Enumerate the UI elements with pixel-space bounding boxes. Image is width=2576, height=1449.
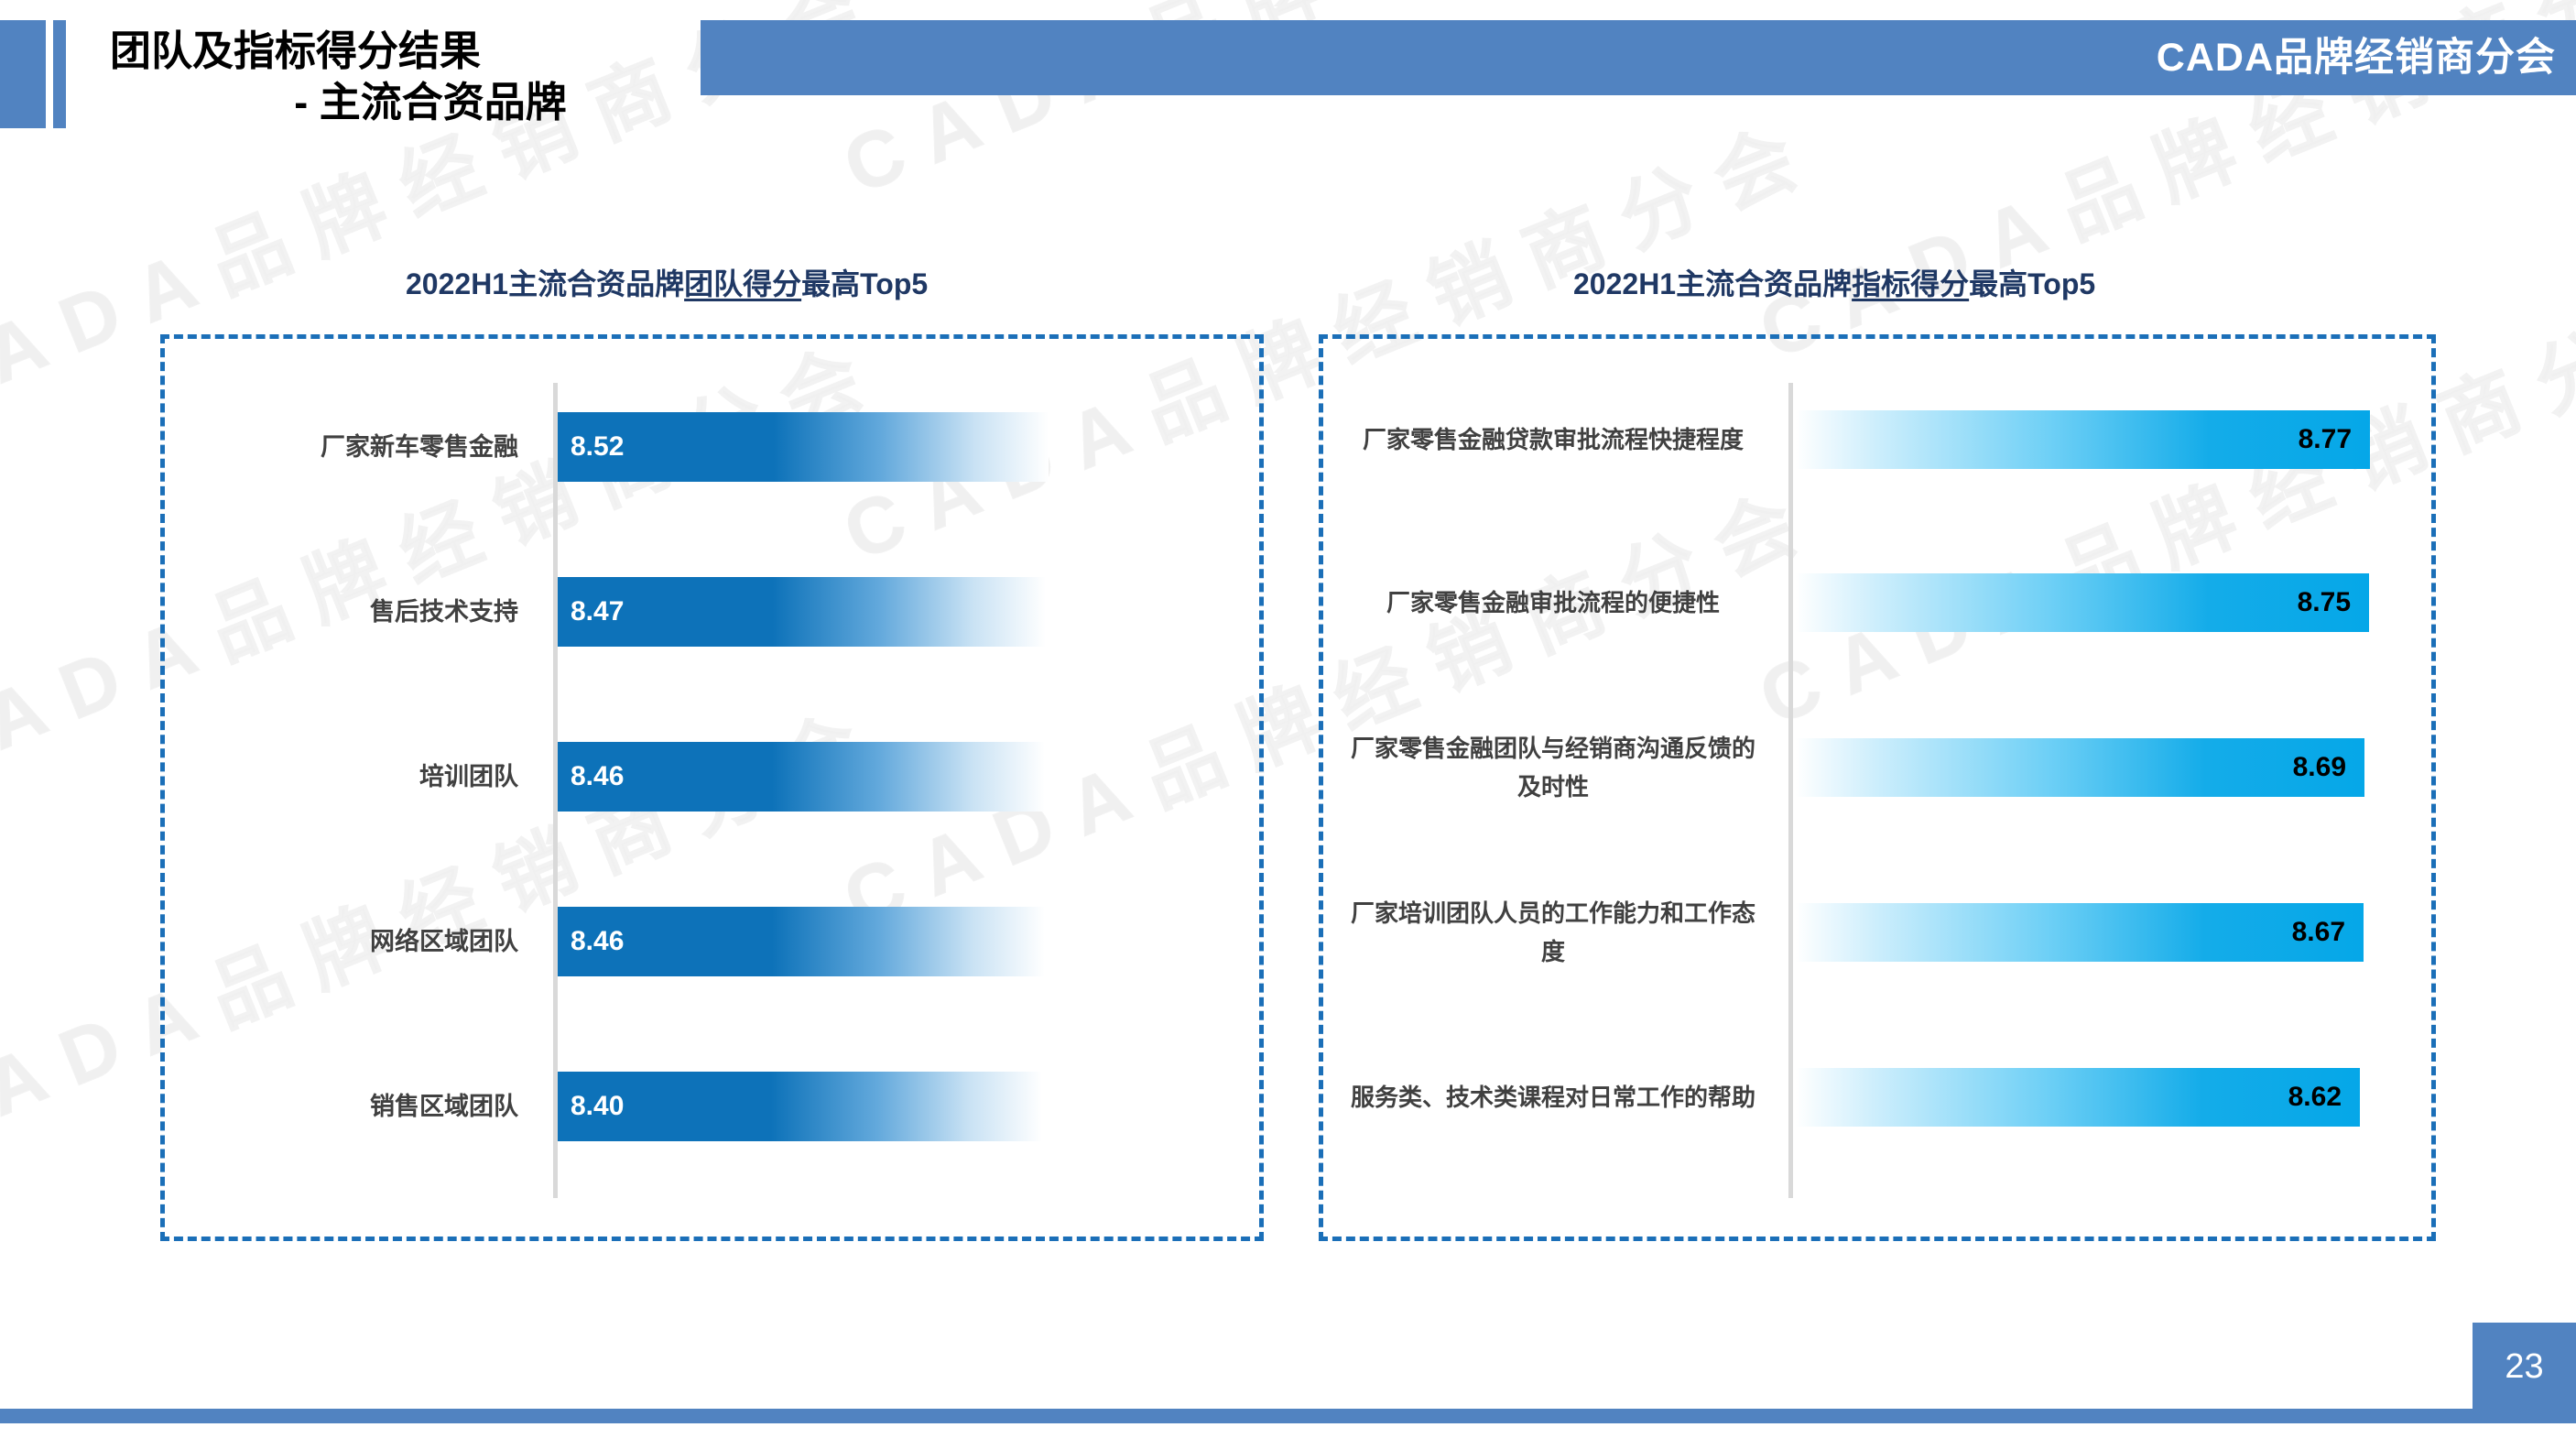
bar-value-label: 8.75 [2298,587,2369,618]
bar-row: 厂家零售金融审批流程的便捷性8.75 [1323,568,2431,637]
bar: 8.62 [1796,1068,2360,1127]
brand-title-text: CADA品牌经销商分会 [2157,36,2556,80]
bar: 8.69 [1796,738,2364,797]
page-title: 团队及指标得分结果 - 主流合资品牌 [110,26,751,128]
bar-value-label: 8.69 [2293,752,2364,783]
header-accent-bar-thin [53,20,66,128]
bar-category-label: 厂家零售金融审批流程的便捷性 [1323,583,1772,622]
bar-track: 8.67 [1796,903,2364,962]
bar-row: 厂家培训团队人员的工作能力和工作态度8.67 [1323,898,2431,967]
bar: 8.77 [1796,410,2370,469]
left-chart-panel: 厂家新车零售金融8.52售后技术支持8.47培训团队8.46网络区域团队8.46… [160,334,1264,1241]
right-chart-panel: 厂家零售金融贷款审批流程快捷程度8.77厂家零售金融审批流程的便捷性8.75厂家… [1319,334,2436,1241]
bar-value-label: 8.46 [558,926,624,957]
right-chart-title-underlined: 指标得分 [1852,267,1969,300]
bar: 8.67 [1796,903,2364,962]
bar-category-label: 销售区域团队 [165,1090,540,1123]
bar-row: 服务类、技术类课程对日常工作的帮助8.62 [1323,1062,2431,1132]
bar: 8.75 [1796,573,2369,632]
page-title-line2: - 主流合资品牌 [110,77,751,128]
bar: 8.46 [558,907,1045,976]
bar-value-label: 8.47 [558,596,624,627]
bar-category-label: 厂家培训团队人员的工作能力和工作态度 [1323,894,1772,971]
bar-row: 网络区域团队8.46 [165,907,1259,976]
bar: 8.52 [558,412,1049,482]
bar-track: 8.69 [1796,738,2364,797]
indicator-score-bar-chart: 厂家零售金融贷款审批流程快捷程度8.77厂家零售金融审批流程的便捷性8.75厂家… [1323,339,2431,1237]
bar-row: 销售区域团队8.40 [165,1072,1259,1141]
bar: 8.46 [558,742,1045,812]
bar-value-label: 8.67 [2292,917,2364,948]
right-chart-title: 2022H1主流合资品牌指标得分最高Top5 [1573,261,2095,303]
bar-row: 厂家零售金融团队与经销商沟通反馈的及时性8.69 [1323,733,2431,802]
brand-title: CADA品牌经销商分会 [2157,20,2556,95]
bar-row: 售后技术支持8.47 [165,577,1259,647]
bar-category-label: 厂家零售金融贷款审批流程快捷程度 [1323,420,1772,459]
left-chart-title-underlined: 团队得分 [684,267,801,300]
bar-category-label: 培训团队 [165,760,540,793]
team-score-bar-chart: 厂家新车零售金融8.52售后技术支持8.47培训团队8.46网络区域团队8.46… [165,339,1259,1237]
bar-track: 8.46 [558,742,1045,812]
page-number-text: 23 [2505,1347,2543,1387]
left-chart-title-suffix: 最高Top5 [801,267,928,300]
bar-category-label: 服务类、技术类课程对日常工作的帮助 [1323,1078,1772,1117]
bar-row: 厂家零售金融贷款审批流程快捷程度8.77 [1323,405,2431,474]
bar-value-label: 8.52 [558,431,624,463]
footer-bar [0,1409,2576,1423]
header-accent-bar-wide [0,20,46,128]
bar-category-label: 厂家新车零售金融 [165,430,540,463]
right-chart-title-suffix: 最高Top5 [1969,267,2095,300]
bar: 8.40 [558,1072,1042,1141]
bar-track: 8.46 [558,907,1045,976]
bar-track: 8.75 [1796,573,2369,632]
bar-value-label: 8.77 [2299,424,2370,455]
bar-category-label: 厂家零售金融团队与经销商沟通反馈的及时性 [1323,729,1772,806]
bar-value-label: 8.62 [2288,1082,2360,1113]
page-number-badge: 23 [2473,1323,2576,1411]
left-chart-title-prefix: 2022H1主流合资品牌 [406,267,684,300]
bar-category-label: 网络区域团队 [165,925,540,958]
right-chart-title-prefix: 2022H1主流合资品牌 [1573,267,1852,300]
bar-value-label: 8.46 [558,761,624,792]
bar-value-label: 8.40 [558,1091,624,1122]
bar-track: 8.47 [558,577,1046,647]
bar-track: 8.40 [558,1072,1042,1141]
page-title-line1: 团队及指标得分结果 [110,26,751,77]
slide-canvas: CADA品牌经销商分会 CADA品牌经销商分会 CADA品牌经销商分会 CADA… [0,0,2576,1449]
bar-track: 8.52 [558,412,1049,482]
watermark-text: CADA品牌经销商分会 [1740,0,2576,15]
bar: 8.47 [558,577,1046,647]
bar-track: 8.77 [1796,410,2370,469]
bar-track: 8.62 [1796,1068,2360,1127]
bar-row: 培训团队8.46 [165,742,1259,812]
bar-row: 厂家新车零售金融8.52 [165,412,1259,482]
left-chart-title: 2022H1主流合资品牌团队得分最高Top5 [406,261,928,303]
bar-category-label: 售后技术支持 [165,595,540,628]
